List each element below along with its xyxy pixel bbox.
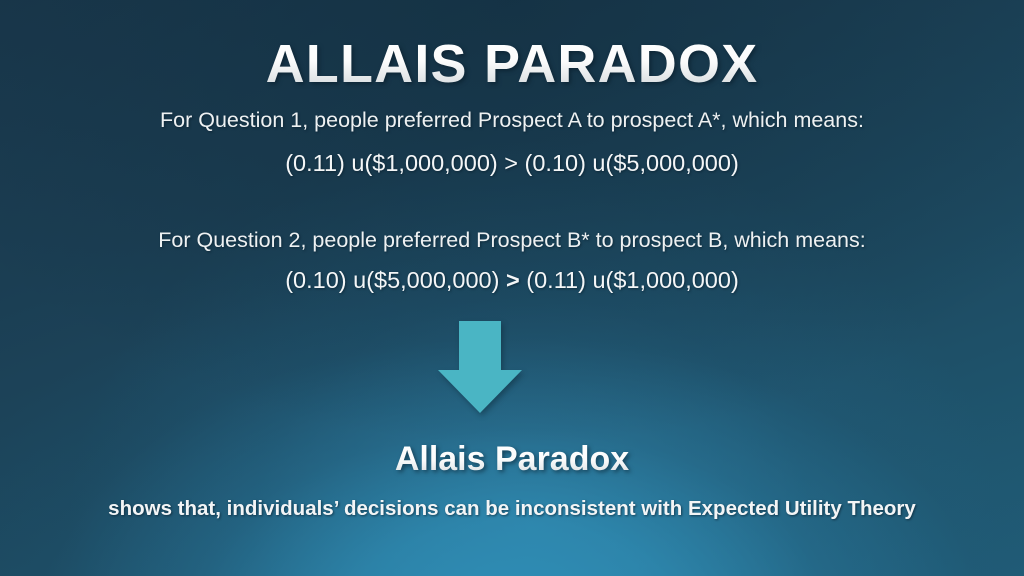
conclusion-detail: shows that, individuals’ decisions can b… [0, 497, 1024, 521]
down-arrow-polygon [438, 321, 522, 413]
question-1-equation-right: (0.10) u($5,000,000) [525, 150, 739, 176]
down-arrow-shape [438, 321, 522, 413]
question-2-equation-left: (0.10) u($5,000,000) [285, 267, 499, 293]
slide-title: ALLAIS PARADOX [0, 33, 1024, 95]
question-2-equation: (0.10) u($5,000,000) > (0.11) u($1,000,0… [0, 267, 1024, 294]
conclusion-heading: Allais Paradox [0, 440, 1024, 479]
question-2-equation-right: (0.11) u($1,000,000) [526, 267, 739, 293]
down-arrow-icon [438, 321, 522, 413]
question-1-statement: For Question 1, people preferred Prospec… [0, 108, 1024, 133]
presentation-slide: ALLAIS PARADOX For Question 1, people pr… [0, 0, 1024, 576]
question-1-equation-operator: > [504, 150, 518, 176]
question-2-equation-operator: > [506, 267, 520, 293]
question-1-equation: (0.11) u($1,000,000) > (0.10) u($5,000,0… [0, 150, 1024, 177]
question-2-statement: For Question 2, people preferred Prospec… [0, 228, 1024, 253]
question-1-equation-left: (0.11) u($1,000,000) [285, 150, 498, 176]
